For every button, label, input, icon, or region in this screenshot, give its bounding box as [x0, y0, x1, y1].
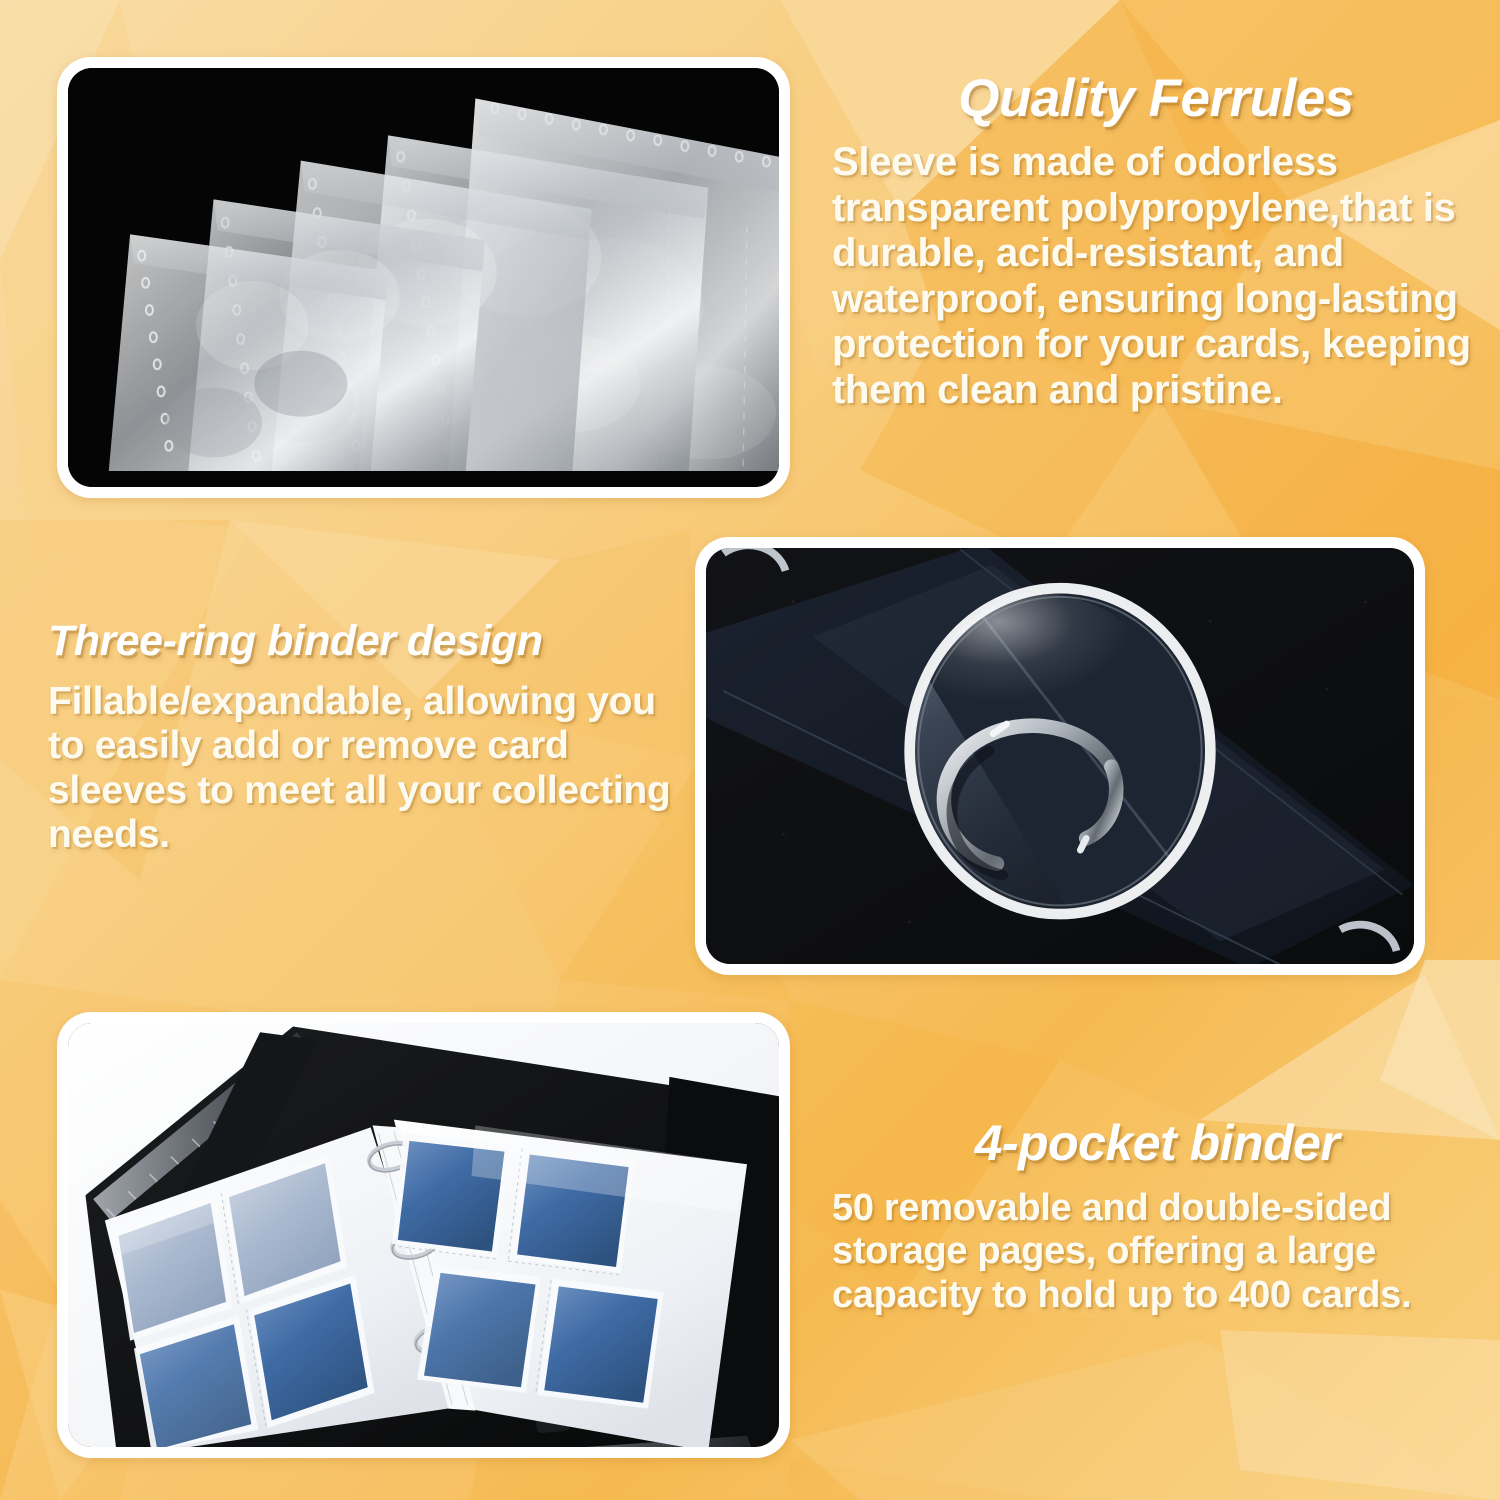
- feature-block-four-pocket-binder: 4-pocket binder 50 removable and double-…: [832, 1118, 1482, 1317]
- open-binder-photo-panel: [57, 1012, 790, 1458]
- feature-heading-quality-ferrules: Quality Ferrules: [832, 72, 1480, 126]
- feature-body-three-ring-binder-design: Fillable/expandable, allowing you to eas…: [48, 680, 688, 858]
- binder-ring-illustration: [706, 548, 1414, 964]
- ring-detail-photo-panel: [695, 537, 1425, 975]
- open-binder-photo-image: [68, 1023, 779, 1447]
- feature-block-three-ring-binder-design: Three-ring binder design Fillable/expand…: [48, 620, 688, 858]
- sleeves-photo-image: [68, 68, 779, 487]
- feature-body-four-pocket-binder: 50 removable and double-sided storage pa…: [832, 1187, 1482, 1317]
- ring-detail-photo-image: [706, 548, 1414, 964]
- feature-body-quality-ferrules: Sleeve is made of odorless transparent p…: [832, 140, 1480, 414]
- feature-heading-four-pocket-binder: 4-pocket binder: [832, 1118, 1482, 1169]
- feature-heading-three-ring-binder-design: Three-ring binder design: [48, 620, 688, 664]
- sleeves-illustration: [68, 68, 779, 487]
- sleeves-photo-panel: [57, 57, 790, 498]
- feature-block-quality-ferrules: Quality Ferrules Sleeve is made of odorl…: [832, 72, 1480, 414]
- product-infographic: Quality Ferrules Sleeve is made of odorl…: [0, 0, 1500, 1500]
- open-binder-illustration: [68, 1023, 779, 1447]
